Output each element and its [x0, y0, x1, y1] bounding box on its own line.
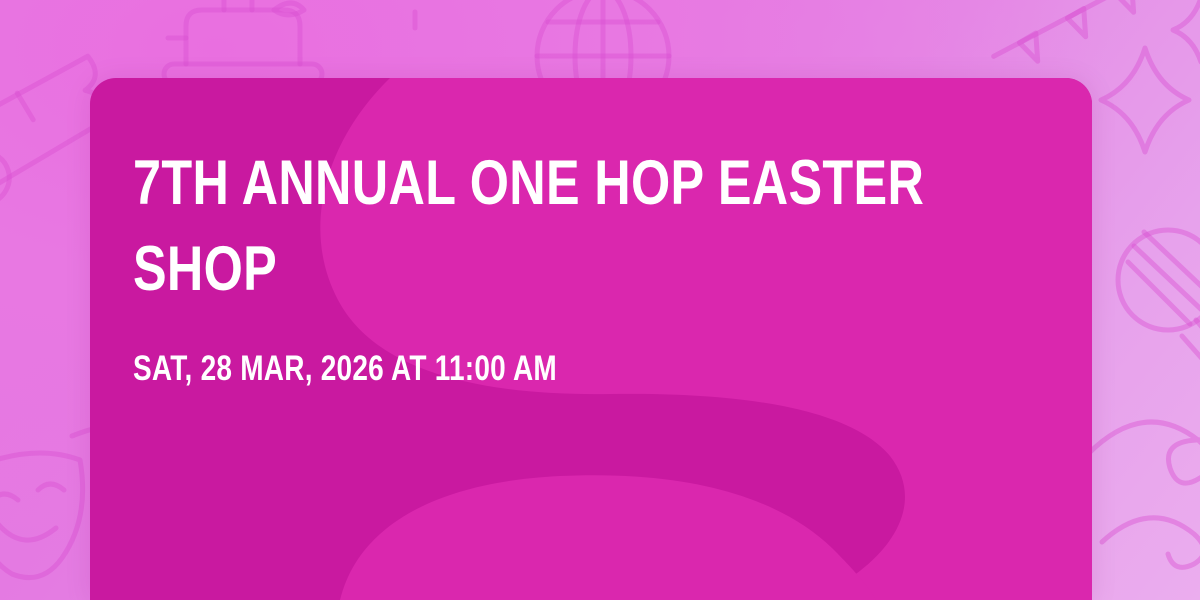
sparkle-small-icon	[1166, 0, 1200, 68]
event-card[interactable]: 7TH ANNUAL ONE HOP EASTER SHOP SAT, 28 M…	[90, 78, 1092, 600]
sparkle-icon	[1090, 40, 1200, 160]
microphone-icon	[1098, 210, 1200, 380]
confetti-dot-icon	[398, 8, 432, 42]
confetti-swirl-icon	[1086, 392, 1200, 600]
event-banner: 7TH ANNUAL ONE HOP EASTER SHOP SAT, 28 M…	[0, 0, 1200, 600]
event-card-content: 7TH ANNUAL ONE HOP EASTER SHOP SAT, 28 M…	[133, 140, 1013, 390]
event-datetime: SAT, 28 MAR, 2026 AT 11:00 AM	[133, 348, 933, 390]
page-title: 7TH ANNUAL ONE HOP EASTER SHOP	[133, 140, 1013, 312]
